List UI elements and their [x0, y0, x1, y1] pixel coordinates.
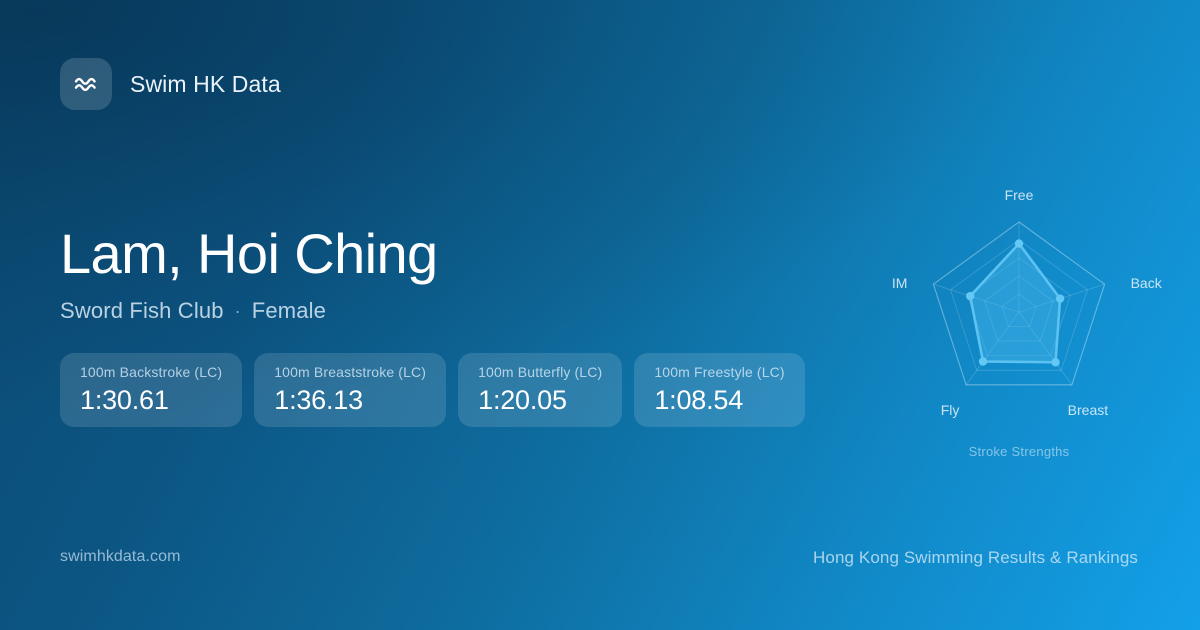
stat-value: 1:20.05	[478, 385, 602, 416]
stroke-strengths-radar-chart: FreeBackBreastFlyIM Stroke Strengths	[869, 172, 1169, 472]
footer-tagline: Hong Kong Swimming Results & Rankings	[813, 548, 1138, 568]
athlete-meta: Sword Fish Club · Female	[60, 298, 438, 324]
stat-value: 1:08.54	[654, 385, 784, 416]
stat-card: 100m Breaststroke(LC) 1:36.13	[254, 353, 446, 427]
radar-axis-label: Back	[1131, 275, 1163, 291]
stat-event: 100m Breaststroke	[274, 364, 394, 380]
radar-axis-label: Fly	[941, 402, 960, 418]
brand-header: Swim HK Data	[60, 58, 281, 110]
stat-label: 100m Butterfly(LC)	[478, 364, 602, 380]
stat-label: 100m Freestyle(LC)	[654, 364, 784, 380]
stat-course: (LC)	[575, 364, 603, 380]
radar-axis-label: Breast	[1068, 402, 1109, 418]
radar-chart-caption: Stroke Strengths	[869, 444, 1169, 459]
athlete-club: Sword Fish Club	[60, 298, 224, 324]
stat-card: 100m Freestyle(LC) 1:08.54	[634, 353, 804, 427]
athlete-gender: Female	[252, 298, 326, 324]
meta-separator: ·	[235, 301, 241, 322]
radar-axis-label: Free	[1005, 187, 1034, 203]
social-share-card: Swim HK Data Lam, Hoi Ching Sword Fish C…	[0, 0, 1200, 630]
stat-label: 100m Breaststroke(LC)	[274, 364, 426, 380]
brand-logo	[60, 58, 112, 110]
stat-event: 100m Backstroke	[80, 364, 190, 380]
athlete-hero: Lam, Hoi Ching Sword Fish Club · Female	[60, 224, 438, 324]
stat-label: 100m Backstroke(LC)	[80, 364, 222, 380]
stat-card: 100m Butterfly(LC) 1:20.05	[458, 353, 622, 427]
stat-course: (LC)	[757, 364, 785, 380]
stat-course: (LC)	[194, 364, 222, 380]
brand-name: Swim HK Data	[130, 71, 281, 98]
stat-value: 1:36.13	[274, 385, 426, 416]
best-times-list: 100m Backstroke(LC) 1:30.61 100m Breasts…	[60, 353, 805, 427]
radar-axis-label: IM	[892, 275, 908, 291]
stat-course: (LC)	[398, 364, 426, 380]
stat-event: 100m Butterfly	[478, 364, 570, 380]
page-title: Lam, Hoi Ching	[60, 224, 438, 283]
footer-site-url: swimhkdata.com	[60, 548, 181, 566]
wave-icon	[71, 69, 101, 99]
stat-event: 100m Freestyle	[654, 364, 753, 380]
stat-value: 1:30.61	[80, 385, 222, 416]
stat-card: 100m Backstroke(LC) 1:30.61	[60, 353, 242, 427]
